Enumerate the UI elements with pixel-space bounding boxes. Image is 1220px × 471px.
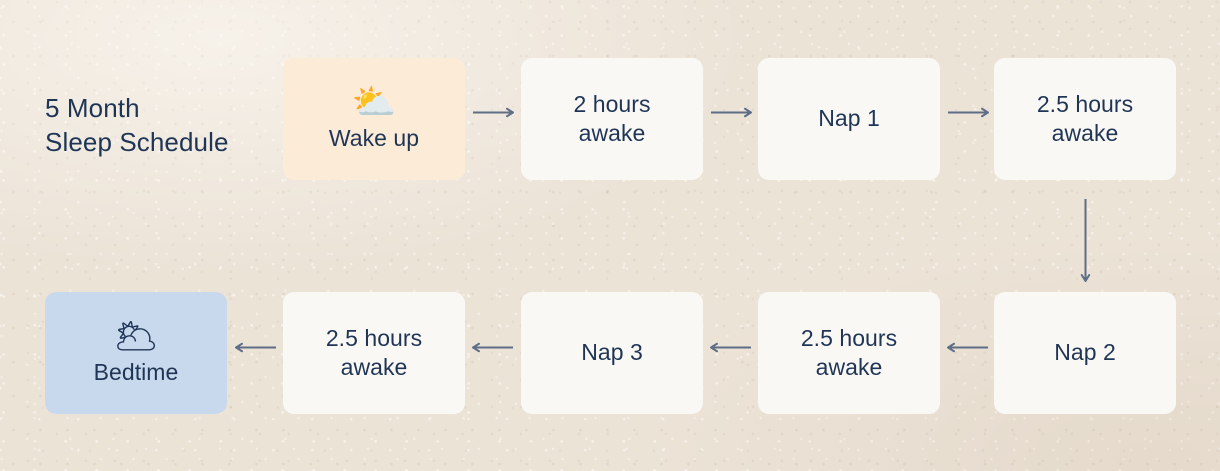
sleep-schedule-diagram: 5 Month Sleep Schedule ⛅Wake up2 hours a… [0, 0, 1220, 471]
flow-card-label: 2.5 hours awake [326, 324, 422, 383]
flow-card-awake-2p5h-d[interactable]: 2.5 hours awake [283, 292, 465, 414]
flow-card-label: 2.5 hours awake [1037, 90, 1133, 149]
flow-card-label: Bedtime [94, 358, 179, 387]
flow-card-label: Wake up [329, 124, 419, 153]
flow-card-nap-1[interactable]: Nap 1 [758, 58, 940, 180]
flow-card-nap-3[interactable]: Nap 3 [521, 292, 703, 414]
flow-card-label: 2 hours awake [573, 90, 650, 149]
flow-card-nap-2[interactable]: Nap 2 [994, 292, 1176, 414]
flow-card-label: Nap 1 [818, 104, 880, 133]
page-title: 5 Month Sleep Schedule [45, 91, 280, 160]
flow-card-bedtime[interactable]: 🌥Bedtime [45, 292, 227, 414]
connector-arrow-awake2p5h-to-nap3 [711, 341, 751, 354]
flow-card-awake-2p5h-c[interactable]: 2.5 hours awake [758, 292, 940, 414]
flow-card-awake-2h[interactable]: 2 hours awake [521, 58, 703, 180]
flow-card-label: Nap 3 [581, 338, 643, 367]
connector-arrow-awake2p5h-to-nap2 [1079, 199, 1092, 281]
connector-arrow-wake-to-awake2h [473, 106, 513, 119]
connector-arrow-nap1-to-awake2p5h [948, 106, 988, 119]
flow-card-label: Nap 2 [1054, 338, 1116, 367]
flow-card-awake-2p5h-a[interactable]: 2.5 hours awake [994, 58, 1176, 180]
flow-card-wake-up[interactable]: ⛅Wake up [283, 58, 465, 180]
cloud-with-moon-icon: 🌥 [113, 318, 159, 354]
connector-arrow-nap2-to-awake2p5h [948, 341, 988, 354]
connector-arrow-awake2p5h-to-bedtime [236, 341, 276, 354]
connector-arrow-nap3-to-awake2p5h [473, 341, 513, 354]
flow-card-label: 2.5 hours awake [801, 324, 897, 383]
connector-arrow-awake2h-to-nap1 [711, 106, 751, 119]
sun-behind-cloud-icon: ⛅ [352, 84, 397, 120]
